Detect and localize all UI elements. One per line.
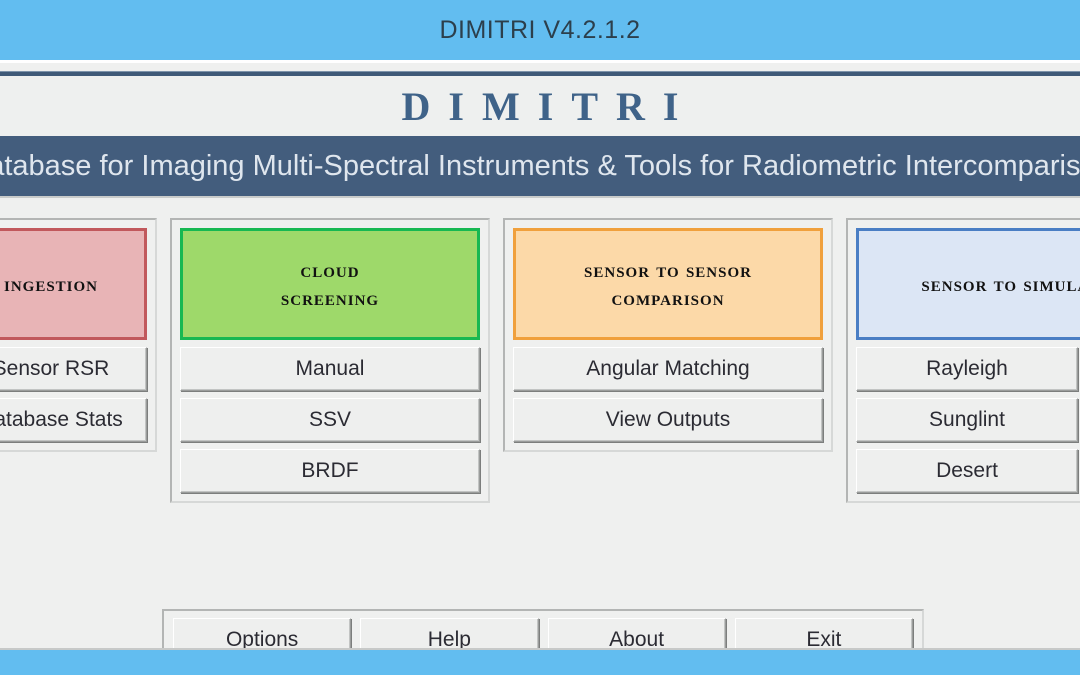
panel-s2sim-title-line1: Sensor to Simulation xyxy=(921,270,1080,298)
angular-matching-button[interactable]: Angular Matching xyxy=(513,347,823,391)
subtitle-banner: Database for Imaging Multi-Spectral Inst… xyxy=(0,136,1080,198)
window-body: DIMITRI Database for Imaging Multi-Spect… xyxy=(0,60,1080,620)
panel-ingestion: Ingestion Sensor RSR Database Stats xyxy=(0,218,157,452)
manual-button[interactable]: Manual xyxy=(180,347,480,391)
subtitle-banner-text: Database for Imaging Multi-Spectral Inst… xyxy=(0,150,1080,183)
rayleigh-button[interactable]: Rayleigh xyxy=(856,347,1078,391)
desert-button[interactable]: Desert xyxy=(856,449,1078,493)
panel-sensor-to-simulation: Sensor to Simulation Rayleigh Sunglint D… xyxy=(846,218,1080,503)
window-title: DIMITRI V4.2.1.2 xyxy=(439,16,640,45)
view-outputs-button[interactable]: View Outputs xyxy=(513,398,823,442)
panel-cloud-title-line1: Cloud xyxy=(300,256,359,284)
panel-cloud-screening: Cloud Screening Manual SSV BRDF xyxy=(170,218,490,503)
logo-area: DIMITRI xyxy=(0,77,1080,135)
sensor-rsr-button[interactable]: Sensor RSR xyxy=(0,347,147,391)
brdf-button[interactable]: BRDF xyxy=(180,449,480,493)
panel-s2s-title-line2: Comparison xyxy=(611,284,724,312)
panel-ingestion-header: Ingestion xyxy=(0,228,147,340)
panel-s2s-title-line1: Sensor to Sensor xyxy=(584,256,752,284)
panel-cloud-screening-header: Cloud Screening xyxy=(180,228,480,340)
panel-row: Ingestion Sensor RSR Database Stats Clou… xyxy=(0,218,1080,528)
dimitri-logo: DIMITRI xyxy=(384,83,697,130)
rayleigh-row: Rayleigh xyxy=(856,347,1080,391)
panel-cloud-title-line2: Screening xyxy=(281,284,379,312)
panel-sensor-to-sensor-comparison: Sensor to Sensor Comparison Angular Matc… xyxy=(503,218,833,452)
window-bottom-strip xyxy=(0,648,1080,675)
header-divider-rule xyxy=(0,71,1080,76)
sunglint-row: Sunglint xyxy=(856,398,1080,442)
database-stats-button[interactable]: Database Stats xyxy=(0,398,147,442)
ssv-button[interactable]: SSV xyxy=(180,398,480,442)
desert-row: Desert xyxy=(856,449,1080,493)
dimitri-application-window: DIMITRI V4.2.1.2 DIMITRI Database for Im… xyxy=(0,0,1080,675)
panel-ingestion-title-line1: Ingestion xyxy=(4,270,98,298)
sunglint-button[interactable]: Sunglint xyxy=(856,398,1078,442)
panel-sensor-to-simulation-header: Sensor to Simulation xyxy=(856,228,1080,340)
panel-sensor-to-sensor-header: Sensor to Sensor Comparison xyxy=(513,228,823,340)
window-titlebar: DIMITRI V4.2.1.2 xyxy=(0,0,1080,60)
